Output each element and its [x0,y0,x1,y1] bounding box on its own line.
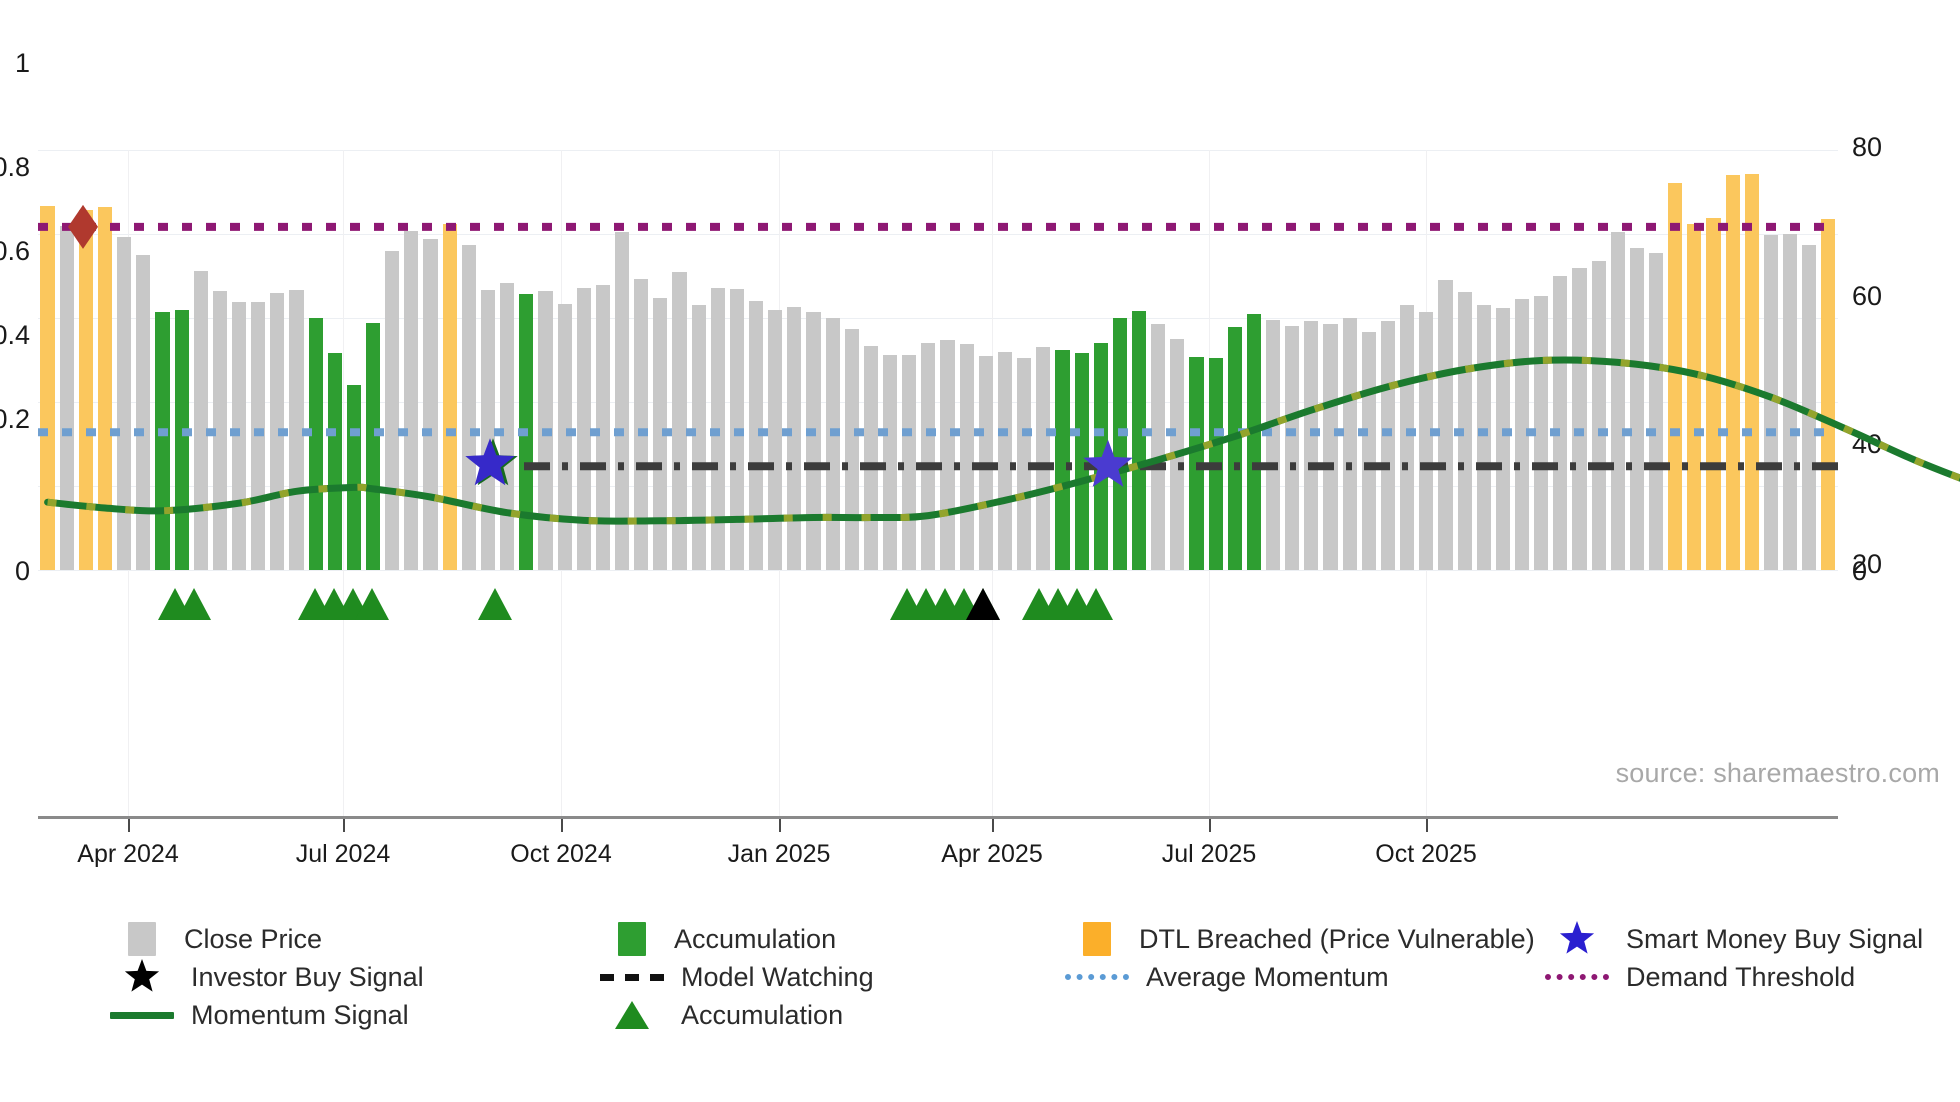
bar-accumulation [366,323,380,570]
legend-square-icon [128,922,156,956]
bar-close-price [558,304,572,570]
x-axis-tick-label: Jul 2024 [296,840,391,869]
bar-accumulation [1189,357,1203,570]
y-axis-left-tick: 0.6 [0,236,30,267]
chart-canvas: 1 0.8 0.6 0.4 0.2 0 80 60 40 20 0 Apr 20… [0,0,1960,1102]
bar-close-price [672,272,686,570]
bar-close-price [864,346,878,570]
bar-close-price [1572,268,1586,570]
bar-accumulation [347,385,361,570]
bar-close-price [1036,347,1050,570]
legend-label: Accumulation [681,1000,843,1031]
bar-close-price [1630,248,1644,570]
bar-close-price [711,288,725,570]
bar-dtl-breached [1726,175,1740,570]
bar-close-price [1802,245,1816,570]
legend-demand-threshold[interactable]: Demand Threshold [1545,958,1855,996]
legend-accumulation-bar[interactable]: Accumulation [600,920,836,958]
bar-close-price [902,355,916,570]
bar-close-price [1381,321,1395,570]
legend-label: Average Momentum [1146,962,1389,993]
y-axis-left-tick: 0.8 [0,152,30,183]
bar-close-price [1592,261,1606,570]
bar-close-price [1017,358,1031,570]
bar-accumulation [1228,327,1242,570]
legend-momentum-signal[interactable]: Momentum Signal [110,996,409,1034]
x-axis-line [38,816,1838,819]
accumulation-triangle-marker [478,588,512,620]
bar-close-price [845,329,859,571]
y-axis-right-tick: 60 [1852,281,1882,312]
bar-close-price [960,344,974,570]
bar-accumulation [309,318,323,570]
bar-close-price [1266,320,1280,570]
bar-close-price [500,283,514,570]
source-attribution: source: sharemaestro.com [1616,758,1940,789]
legend-row: Momentum SignalAccumulation [0,996,1960,1034]
x-axis-tick-label: Apr 2024 [77,840,178,869]
bar-close-price [1534,296,1548,570]
bar-close-price [634,279,648,570]
legend-label: Momentum Signal [191,1000,409,1031]
bar-close-price [481,290,495,570]
bar-close-price [1362,332,1376,570]
bar-close-price [538,291,552,570]
bar-close-price [787,307,801,570]
legend-triangle-icon [600,998,664,1032]
x-axis-tick [779,819,781,832]
bar-accumulation [1132,311,1146,570]
legend-square-icon [1083,922,1111,956]
bar-dtl-breached [1668,183,1682,570]
accumulation-triangle-marker [1079,588,1113,620]
bar-close-price [1477,305,1491,570]
x-axis-tick [128,819,130,832]
bar-close-price [289,290,303,570]
legend-label: Accumulation [674,924,836,955]
x-axis-tick-label: Jul 2025 [1162,840,1257,869]
bar-close-price [1343,318,1357,570]
bar-dtl-breached [98,207,112,570]
bar-close-price [1419,312,1433,570]
bar-close-price [883,355,897,570]
y-axis-right-tick: 40 [1852,429,1882,460]
bar-accumulation [1247,314,1261,570]
bar-close-price [826,318,840,570]
legend-square-icon [618,922,646,956]
bar-close-price [423,239,437,570]
bar-close-price [1496,308,1510,570]
bar-close-price [940,340,954,570]
legend-label: Investor Buy Signal [191,962,424,993]
bar-close-price [1458,292,1472,570]
bar-close-price [998,352,1012,570]
bar-close-price [1611,232,1625,570]
bar-close-price [921,343,935,570]
legend-close-price[interactable]: Close Price [110,920,322,958]
bar-accumulation [1075,353,1089,570]
bar-accumulation [1094,343,1108,570]
bar-accumulation [175,310,189,570]
legend-average-momentum[interactable]: Average Momentum [1065,958,1389,996]
bar-layer [38,150,1838,570]
bar-close-price [385,251,399,570]
legend-dotted-line-icon [1065,974,1129,980]
bar-close-price [615,232,629,570]
bar-accumulation [519,294,533,570]
x-axis-tick [1426,819,1428,832]
y-axis-left-tick: 1 [0,48,30,79]
bar-dtl-breached [1706,218,1720,570]
bar-dtl-breached [443,224,457,570]
bar-accumulation [155,312,169,570]
x-axis-tick [1209,819,1211,832]
bar-close-price [232,302,246,570]
x-axis-tick [561,819,563,832]
bar-close-price [270,293,284,570]
bar-close-price [1170,339,1184,570]
bar-close-price [1438,280,1452,570]
bar-close-price [692,305,706,570]
chart-legend: Close PriceAccumulationDTL Breached (Pri… [0,920,1960,1034]
bar-close-price [596,285,610,570]
legend-accumulation-triangle[interactable]: Accumulation [600,996,843,1034]
legend-investor-buy-signal[interactable]: Investor Buy Signal [110,958,424,996]
legend-star-icon [1545,920,1609,958]
bar-dtl-breached [40,206,54,570]
investor-buy-triangle-marker [966,588,1000,620]
legend-label: Model Watching [681,962,874,993]
legend-label: Demand Threshold [1626,962,1855,993]
legend-dotted-line-icon [1545,974,1609,980]
legend-star-icon [110,958,174,996]
bar-accumulation [1055,350,1069,570]
bar-accumulation [1113,318,1127,570]
bar-close-price [749,301,763,570]
bar-close-price [117,237,131,570]
bar-dtl-breached [1687,224,1701,570]
y-axis-right-tick: 0 [1852,556,1867,587]
bar-close-price [653,298,667,570]
bar-close-price [1304,321,1318,570]
legend-dtl-breached[interactable]: DTL Breached (Price Vulnerable) [1065,920,1535,958]
bar-close-price [1323,324,1337,570]
y-axis-left-tick: 0.4 [0,320,30,351]
bar-close-price [213,291,227,570]
legend-row: Investor Buy SignalModel WatchingAverage… [0,958,1960,996]
x-axis-tick [992,819,994,832]
bar-dtl-breached [79,210,93,570]
bar-close-price [194,271,208,570]
bar-close-price [136,255,150,570]
bar-close-price [1400,305,1414,570]
bar-close-price [60,226,74,570]
legend-label: Smart Money Buy Signal [1626,924,1923,955]
legend-model-watching[interactable]: Model Watching [600,958,874,996]
bar-close-price [806,312,820,570]
bar-close-price [404,231,418,570]
x-axis-tick-label: Oct 2024 [510,840,611,869]
accumulation-triangle-marker [355,588,389,620]
legend-label: Close Price [184,924,322,955]
legend-row: Close PriceAccumulationDTL Breached (Pri… [0,920,1960,958]
bar-close-price [577,288,591,570]
gridline [38,570,1838,571]
bar-close-price [1151,324,1165,570]
legend-line-icon [110,1012,174,1019]
x-axis-tick-label: Oct 2025 [1375,840,1476,869]
bar-accumulation [328,353,342,570]
bar-close-price [1553,276,1567,570]
legend-label: DTL Breached (Price Vulnerable) [1139,924,1535,955]
x-axis-tick-label: Apr 2025 [941,840,1042,869]
bar-close-price [1515,299,1529,570]
bar-close-price [462,245,476,570]
accumulation-triangle-marker [177,588,211,620]
bar-dtl-breached [1745,174,1759,570]
bar-close-price [1764,235,1778,570]
bar-close-price [768,310,782,570]
y-axis-left-tick: 0.2 [0,404,30,435]
bar-close-price [1649,253,1663,570]
legend-smart-money-buy-signal[interactable]: Smart Money Buy Signal [1545,920,1923,958]
bar-dtl-breached [1821,219,1835,570]
legend-dashed-line-icon [600,974,664,981]
y-axis-right-tick: 80 [1852,132,1882,163]
bar-close-price [1285,326,1299,570]
bar-accumulation [1209,358,1223,570]
bar-close-price [251,302,265,570]
bar-close-price [979,356,993,570]
x-axis-tick [343,819,345,832]
y-axis-left-tick: 0 [0,556,30,587]
bar-close-price [730,289,744,570]
bar-close-price [1783,234,1797,570]
plot-area [38,150,1838,570]
x-axis-tick-label: Jan 2025 [728,840,831,869]
